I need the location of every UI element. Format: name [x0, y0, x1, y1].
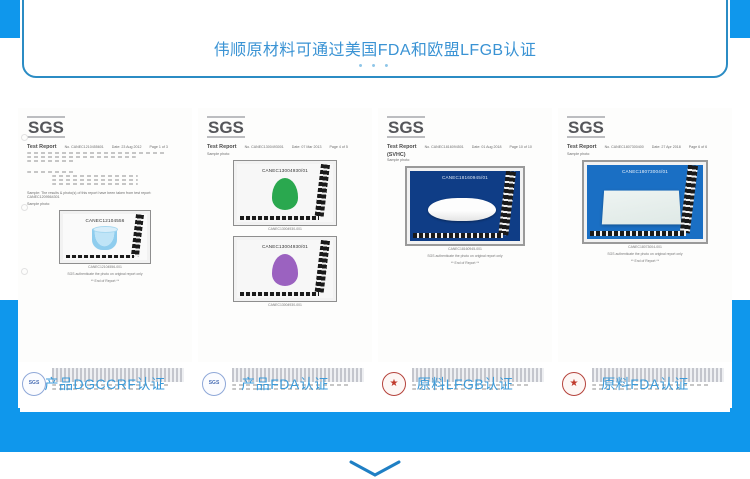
report-page: Page 4 of 5 — [330, 145, 348, 149]
certificate-page: SGS Test Report No. CANEC1807300400 Date… — [558, 108, 732, 362]
sample-photo-label: Sample photo: — [387, 158, 543, 162]
page-root: 检测报告 伟顺原材料可通过美国FDA和欧盟LFGB认证 • • • SGS Te… — [0, 0, 750, 479]
caption-material-fda: 原料FDA认证 — [558, 374, 732, 394]
caption-dgccrf: 产品DGCCRF认证 — [18, 374, 192, 394]
certificate-card[interactable]: SGS Test Report No. CANEC1816094501 Date… — [378, 108, 552, 408]
report-title: Test Report — [387, 144, 417, 150]
report-number: No. CANEC1210455601 — [65, 145, 104, 149]
bottom-blue-band — [0, 412, 750, 452]
sample-photo: CANEC18073004/01 — [582, 160, 708, 244]
report-number: No. CANEC1807300400 — [605, 145, 644, 149]
header-subtitle: 伟顺原材料可通过美国FDA和欧盟LFGB认证 — [24, 36, 726, 60]
report-page: Page 6 of 6 — [689, 145, 707, 149]
certificate-card[interactable]: SGS Test Report No. CANEC1807300400 Date… — [558, 108, 732, 408]
sgs-logo: SGS — [27, 116, 65, 138]
cup-shape — [92, 228, 117, 250]
decor-bar-right-mid — [730, 300, 750, 412]
photo-caption: CANEC12104556-001 — [27, 265, 183, 269]
report-number: No. CANEC1816094501 — [425, 145, 464, 149]
end-note: ** End of Report ** — [27, 279, 183, 283]
caption-material-lfgb: 原料LFGB认证 — [378, 374, 552, 394]
sample-note: Sample: The results & photo(s) of this r… — [27, 191, 183, 199]
sample-code: CANEC12104556 — [63, 218, 147, 223]
sample-photo-label: Sample photo: — [567, 152, 723, 156]
sgs-logo: SGS — [567, 116, 605, 138]
photo-caption: CANEC13004930-001 — [207, 227, 363, 231]
report-title: Test Report — [207, 144, 237, 150]
report-date: Date: 01 Aug 2018 — [472, 145, 502, 149]
photo-caption: CANEC18073004-001 — [567, 245, 723, 249]
caption-row: 产品DGCCRF认证 产品FDA认证 原料LFGB认证 原料FDA认证 — [18, 374, 732, 394]
sample-code: CANEC18160945/01 — [410, 175, 520, 180]
sgs-logo: SGS — [207, 116, 245, 138]
report-number: No. CANEC1300493001 — [245, 145, 284, 149]
certificate-card[interactable]: SGS Test Report No. CANEC1300493001 Date… — [198, 108, 372, 408]
ruler-icon — [590, 231, 685, 236]
punch-hole-icon — [21, 134, 28, 141]
end-note: ** End of Report ** — [387, 261, 543, 265]
end-note: ** End of Report ** — [567, 259, 723, 263]
sample-photo-label: Sample photo: — [207, 152, 363, 156]
ruler-icon — [66, 255, 135, 258]
sample-code: CANEC13004930/01 — [237, 244, 333, 249]
chevron-down-icon[interactable] — [347, 458, 403, 478]
ruler-icon — [240, 216, 319, 220]
certificate-card[interactable]: SGS Test Report No. CANEC1210455601 Date… — [18, 108, 192, 408]
certificate-page: SGS Test Report No. CANEC1210455601 Date… — [18, 108, 192, 362]
certificate-page: SGS Test Report No. CANEC1300493001 Date… — [198, 108, 372, 362]
punch-hole-icon — [21, 204, 28, 211]
mouse-product-shape — [428, 198, 496, 222]
certificate-grid: SGS Test Report No. CANEC1210455601 Date… — [18, 108, 732, 408]
report-page: Page 1 of 3 — [150, 145, 168, 149]
sample-code: CANEC13004930/01 — [237, 168, 333, 173]
sheet-product-shape — [602, 191, 681, 225]
sample-photo-label: Sample photo: — [27, 202, 183, 206]
caption-product-fda: 产品FDA认证 — [198, 374, 372, 394]
report-page: Page 10 of 10 — [510, 145, 532, 149]
auth-note: SGS authenticate the photo on original r… — [387, 254, 543, 258]
decor-bar-left-mid — [0, 300, 20, 412]
sample-code: CANEC18073004/01 — [587, 169, 703, 174]
decor-bar-left-top — [0, 0, 20, 38]
sample-photo: CANEC13004930/01 — [233, 236, 337, 302]
header-dots: • • • — [24, 60, 726, 72]
auth-note: SGS authenticate the photo on original r… — [27, 272, 183, 276]
header-panel: 检测报告 伟顺原材料可通过美国FDA和欧盟LFGB认证 • • • — [22, 0, 728, 78]
photo-caption: CANEC13004930-001 — [207, 303, 363, 307]
report-title: Test Report — [27, 144, 57, 150]
report-date: Date: 23 Aug 2012 — [112, 145, 142, 149]
ruler-icon — [413, 233, 503, 238]
report-date: Date: 27 Apr 2018 — [652, 145, 681, 149]
photo-caption: CANEC18160945-001 — [387, 247, 543, 251]
decor-bar-right-top — [730, 0, 750, 38]
certificate-page: SGS Test Report No. CANEC1816094501 Date… — [378, 108, 552, 362]
auth-note: SGS authenticate the photo on original r… — [567, 252, 723, 256]
punch-hole-icon — [21, 268, 28, 275]
sample-photo: CANEC13004930/01 — [233, 160, 337, 226]
ruler-icon — [240, 292, 319, 296]
report-date: Date: 07 Mar 2013 — [292, 145, 322, 149]
sgs-logo: SGS — [387, 116, 425, 138]
sample-photo: CANEC18160945/01 — [405, 166, 525, 246]
sample-photo: CANEC12104556 — [59, 210, 151, 264]
report-title: Test Report — [567, 144, 597, 150]
